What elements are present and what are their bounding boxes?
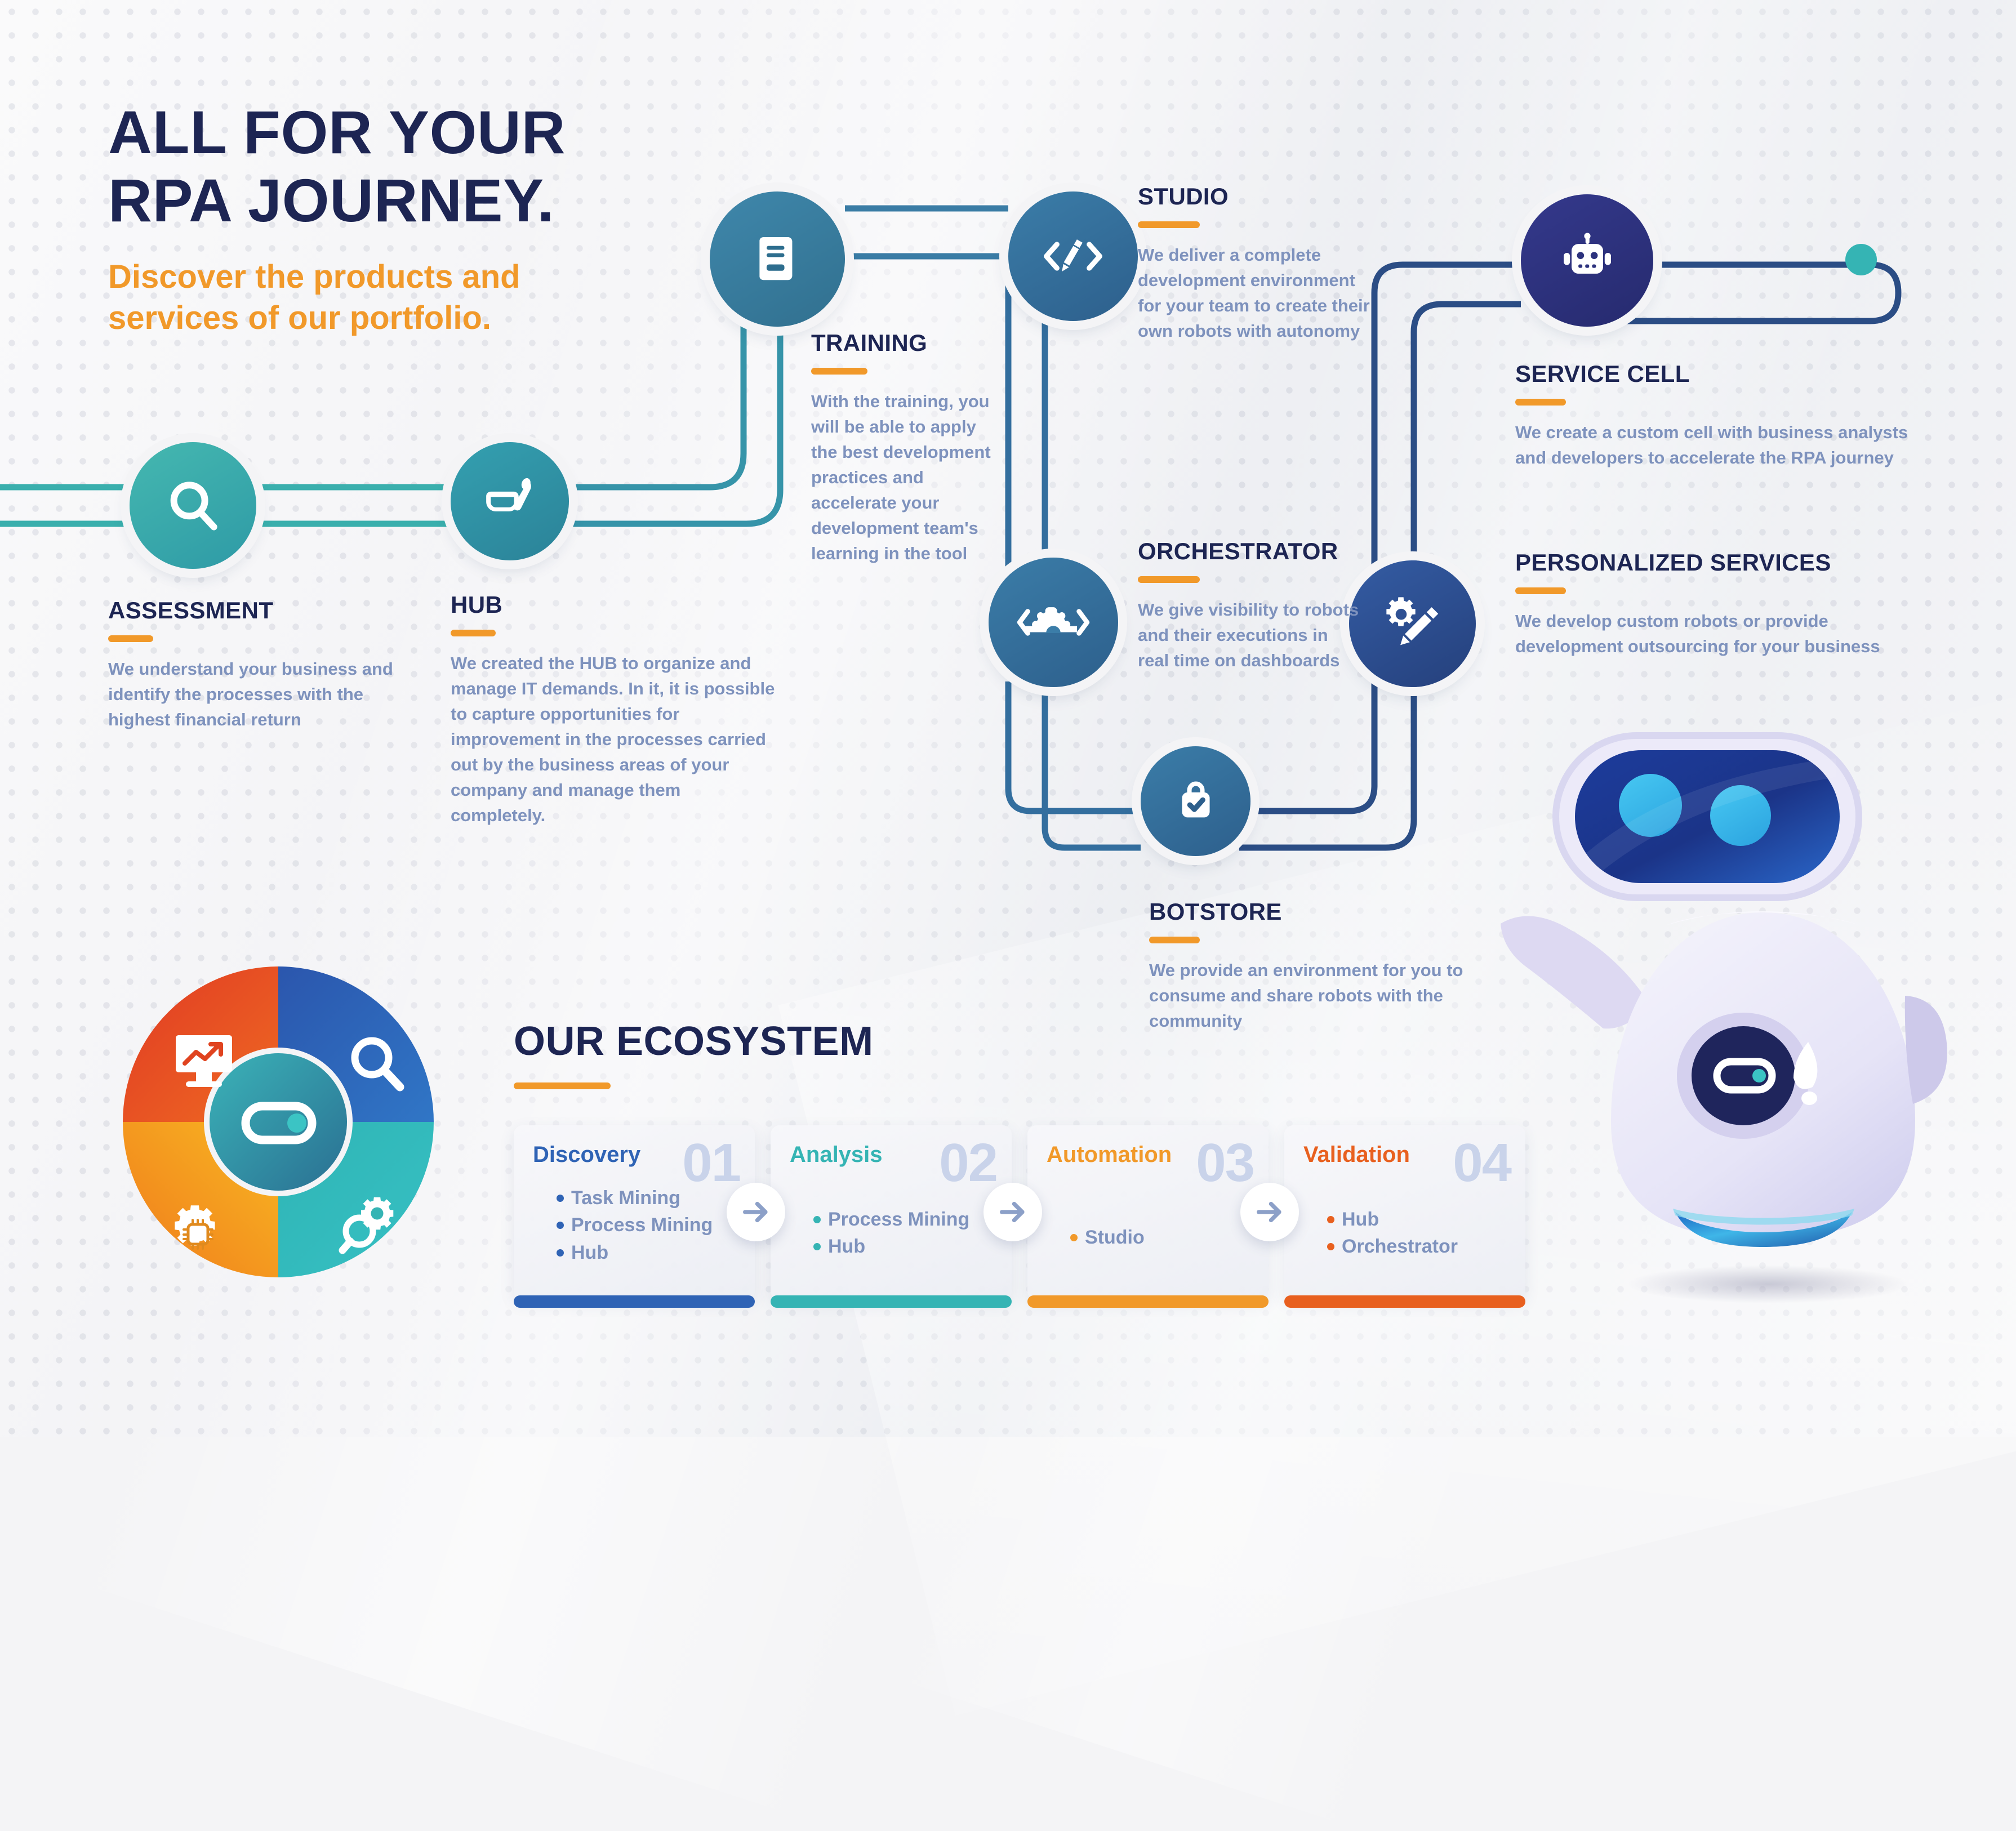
eco-list-validation: Hub Orchestrator — [1327, 1206, 1506, 1260]
hub-bowl-icon — [479, 471, 540, 532]
eco-card-discovery[interactable]: Discovery 01 Task Mining Process Mining … — [514, 1125, 755, 1300]
eco-bar-analysis — [771, 1295, 1012, 1308]
node-studio[interactable] — [1008, 191, 1138, 321]
node-orchestrator[interactable] — [989, 558, 1118, 687]
list-item: Hub — [557, 1239, 736, 1266]
node-training[interactable] — [710, 191, 845, 327]
eco-bar-discovery — [514, 1295, 755, 1308]
eco-number-automation: 03 — [1196, 1132, 1254, 1194]
eco-name-analysis: Analysis — [790, 1142, 883, 1168]
eco-name-validation: Validation — [1303, 1142, 1410, 1168]
orchestrator-rule — [1138, 576, 1200, 583]
list-item: Hub — [1327, 1206, 1506, 1233]
eco-card-automation[interactable]: Automation 03 Studio — [1027, 1125, 1269, 1300]
bag-check-icon — [1170, 776, 1222, 827]
service-cell-title: SERVICE CELL — [1515, 360, 1921, 387]
service-cell-rule — [1515, 399, 1566, 406]
block-personalized-services: PERSONALIZED SERVICES We develop custom … — [1515, 549, 1910, 660]
hub-body: We created the HUB to organize and manag… — [451, 651, 777, 828]
eco-arrow-1[interactable] — [727, 1183, 785, 1241]
hub-title: HUB — [451, 591, 777, 618]
block-service-cell: SERVICE CELL We create a custom cell wit… — [1515, 360, 1921, 471]
eco-list-analysis: Process Mining Hub — [813, 1206, 993, 1260]
block-orchestrator: ORCHESTRATOR We give visibility to robot… — [1138, 538, 1363, 674]
personalized-services-rule — [1515, 587, 1566, 594]
service-cell-body: We create a custom cell with business an… — [1515, 420, 1921, 471]
title-line-2: RPA JOURNEY. — [108, 167, 566, 235]
title-line-1: ALL FOR YOUR — [108, 99, 566, 167]
node-botstore[interactable] — [1141, 746, 1250, 856]
arrow-right-icon — [1253, 1196, 1286, 1228]
eco-name-discovery: Discovery — [533, 1142, 640, 1168]
arrow-right-icon — [740, 1196, 772, 1228]
hub-rule — [451, 630, 496, 636]
page-subtitle: Discover the products and services of ou… — [108, 256, 566, 338]
robot-highlight-dot — [1801, 1092, 1817, 1105]
list-item: Orchestrator — [1327, 1233, 1506, 1260]
assessment-title: ASSESSMENT — [108, 597, 401, 624]
eco-number-analysis: 02 — [939, 1132, 997, 1194]
header: ALL FOR YOUR RPA JOURNEY. Discover the p… — [108, 99, 566, 338]
block-assessment: ASSESSMENT We understand your business a… — [108, 597, 401, 733]
subtitle-line-1: Discover the products and — [108, 256, 566, 297]
robot-arm-right — [1905, 996, 1947, 1104]
list-item: Process Mining — [813, 1206, 993, 1233]
botstore-title: BOTSTORE — [1149, 898, 1476, 925]
subtitle-line-2: services of our portfolio. — [108, 297, 566, 338]
ecosystem-heading: OUR ECOSYSTEM — [514, 1018, 874, 1064]
eco-list-automation: Studio — [1070, 1224, 1249, 1251]
ecosystem-rule — [514, 1082, 611, 1089]
studio-rule — [1138, 221, 1200, 228]
arrow-right-icon — [996, 1196, 1029, 1228]
eco-list-discovery: Task Mining Process Mining Hub — [557, 1184, 736, 1266]
wheel-center-disc — [210, 1053, 347, 1191]
robot-shadow — [1628, 1265, 1910, 1303]
robot-head — [1552, 732, 1862, 901]
eco-name-automation: Automation — [1047, 1142, 1172, 1168]
magnifier-icon — [162, 475, 224, 537]
assessment-body: We understand your business and identify… — [108, 657, 401, 733]
training-body: With the training, you will be able to a… — [811, 389, 1003, 567]
orchestrator-title: ORCHESTRATOR — [1138, 538, 1363, 565]
robot-arm-left — [1501, 916, 1649, 1029]
list-item: Studio — [1070, 1224, 1249, 1251]
studio-title: STUDIO — [1138, 183, 1374, 210]
list-item: Hub — [813, 1233, 993, 1260]
block-hub: HUB We created the HUB to organize and m… — [451, 591, 777, 828]
eco-arrow-3[interactable] — [1240, 1183, 1299, 1241]
training-rule — [811, 368, 867, 375]
botstore-body: We provide an environment for you to con… — [1149, 958, 1476, 1034]
studio-body: We deliver a complete development enviro… — [1138, 243, 1374, 344]
list-item: Process Mining — [557, 1211, 736, 1239]
robot-mascot — [1487, 715, 2016, 1346]
block-studio: STUDIO We deliver a complete development… — [1138, 183, 1374, 344]
gear-pencil-icon — [1381, 592, 1444, 656]
ecosystem-wheel — [121, 964, 436, 1280]
node-service-cell[interactable] — [1521, 194, 1653, 327]
eco-arrow-2[interactable] — [983, 1183, 1042, 1241]
ecosystem-heading-group: OUR ECOSYSTEM — [514, 1018, 874, 1104]
eco-card-analysis[interactable]: Analysis 02 Process Mining Hub — [771, 1125, 1012, 1300]
training-title: TRAINING — [811, 329, 1003, 357]
eco-bar-automation — [1027, 1295, 1269, 1308]
gear-code-icon — [1014, 594, 1093, 651]
block-botstore: BOTSTORE We provide an environment for y… — [1149, 898, 1476, 1034]
robot-chest-screen — [1692, 1026, 1795, 1125]
node-hub[interactable] — [451, 442, 569, 560]
node-personalized-services[interactable] — [1349, 560, 1476, 687]
code-pencil-icon — [1036, 225, 1110, 287]
orchestrator-body: We give visibility to robots and their e… — [1138, 598, 1363, 674]
book-icon — [748, 230, 807, 288]
robot-body — [1611, 911, 1947, 1247]
list-item: Task Mining — [557, 1184, 736, 1211]
botstore-rule — [1149, 937, 1200, 943]
node-assessment[interactable] — [130, 442, 256, 569]
personalized-services-body: We develop custom robots or provide deve… — [1515, 609, 1910, 660]
page-title: ALL FOR YOUR RPA JOURNEY. — [108, 99, 566, 235]
assessment-rule — [108, 635, 153, 642]
personalized-services-title: PERSONALIZED SERVICES — [1515, 549, 1910, 576]
block-training: TRAINING With the training, you will be … — [811, 329, 1003, 567]
robot-head-icon — [1556, 229, 1619, 292]
